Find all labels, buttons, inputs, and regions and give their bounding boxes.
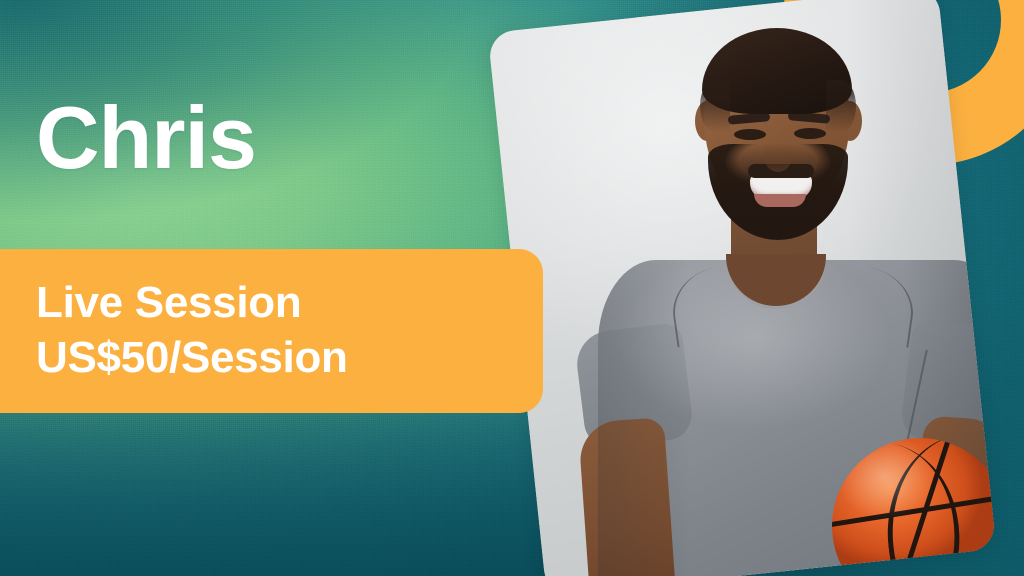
hair-fade-left xyxy=(700,80,730,132)
lower-lip xyxy=(754,194,806,207)
offer-price-label: US$50/Session xyxy=(36,330,543,385)
offer-type-label: Live Session xyxy=(36,275,543,330)
coach-photo xyxy=(488,0,997,576)
nose xyxy=(764,140,792,172)
coach-photo-card[interactable] xyxy=(488,0,997,576)
offer-banner[interactable]: Live Session US$50/Session xyxy=(0,249,543,413)
coach-name-heading: Chris xyxy=(36,94,256,182)
eye-right xyxy=(794,128,826,139)
promo-card: Chris Live Session US$50/Session xyxy=(0,0,1024,576)
hair-fade-right xyxy=(826,80,856,132)
eye-left xyxy=(734,129,766,140)
coach-figure xyxy=(488,0,997,576)
